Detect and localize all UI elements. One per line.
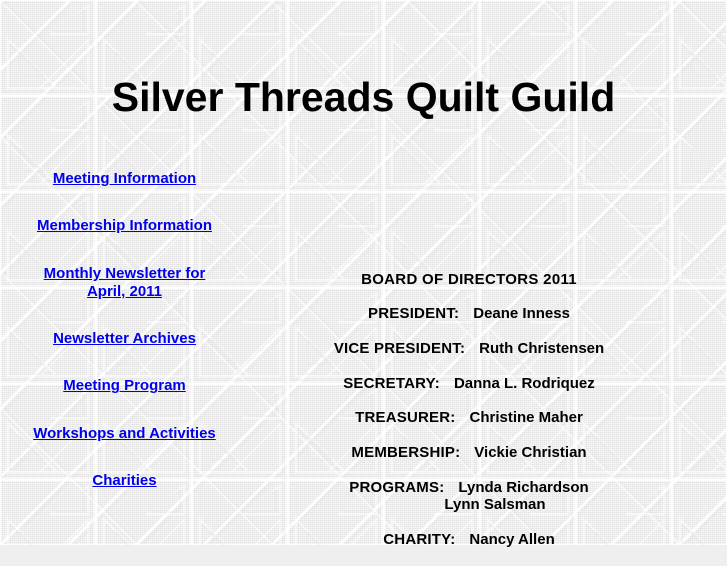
link-charities[interactable]: Charities [92, 472, 156, 490]
nav-item-newsletter-archives: Newsletter Archives [0, 330, 249, 348]
board-member-name: Christine Maher [469, 409, 582, 426]
page-root: Silver Threads Quilt Guild Meeting Infor… [0, 0, 727, 545]
board-row-treasurer: TREASURER:Christine Maher [249, 410, 689, 427]
board-member-name: Vickie Christian [474, 444, 586, 461]
link-meeting-information[interactable]: Meeting Information [53, 170, 196, 188]
link-workshops-and-activities[interactable]: Workshops and Activities [33, 425, 216, 443]
board-row-secretary: SECRETARY:Danna L. Rodriquez [249, 376, 689, 393]
board-role-label: CHARITY: [383, 531, 455, 548]
board-row-programs: PROGRAMS:Lynda Richardson Lynn Salsman [249, 480, 689, 514]
nav-item-meeting-information: Meeting Information [0, 170, 249, 188]
link-meeting-program[interactable]: Meeting Program [63, 377, 186, 395]
nav-item-meeting-program: Meeting Program [0, 377, 249, 395]
board-role-label: TREASURER: [355, 409, 455, 426]
board-row-president: PRESIDENT:Deane Inness [249, 306, 689, 323]
nav-item-workshops-and-activities: Workshops and Activities [0, 425, 249, 443]
board-member-name: Deane Inness [473, 305, 570, 322]
nav-item-monthly-newsletter: Monthly Newsletter for April, 2011 [0, 265, 249, 302]
board-role-label: MEMBERSHIP: [351, 444, 460, 461]
board-row-charity: CHARITY:Nancy Allen [249, 532, 689, 549]
board-role-label: VICE PRESIDENT: [334, 340, 465, 357]
board-member-name: Nancy Allen [469, 531, 554, 548]
board-member-name: Lynda Richardson [458, 479, 588, 496]
board-member-name: Danna L. Rodriquez [454, 375, 595, 392]
link-monthly-newsletter-line1[interactable]: Monthly Newsletter for [44, 265, 206, 283]
link-newsletter-archives[interactable]: Newsletter Archives [53, 330, 196, 348]
board-member-name: Ruth Christensen [479, 340, 604, 357]
nav-item-charities: Charities [0, 472, 249, 490]
nav-item-membership-information: Membership Information [0, 217, 249, 235]
board-member-name-secondary: Lynn Salsman [249, 497, 689, 514]
link-monthly-newsletter-line2[interactable]: April, 2011 [87, 283, 162, 301]
board-row-membership: MEMBERSHIP:Vickie Christian [249, 445, 689, 462]
board-role-label: SECRETARY: [343, 375, 440, 392]
link-membership-information[interactable]: Membership Information [37, 217, 212, 235]
page-title: Silver Threads Quilt Guild [0, 77, 727, 118]
navigation-links: Meeting Information Membership Informati… [0, 170, 249, 519]
board-role-label: PRESIDENT: [368, 305, 459, 322]
board-heading: BOARD OF DIRECTORS 2011 [249, 271, 689, 288]
board-of-directors-section: BOARD OF DIRECTORS 2011 PRESIDENT:Deane … [249, 271, 689, 566]
board-row-vice-president: VICE PRESIDENT:Ruth Christensen [249, 341, 689, 358]
board-role-label: PROGRAMS: [349, 479, 444, 496]
